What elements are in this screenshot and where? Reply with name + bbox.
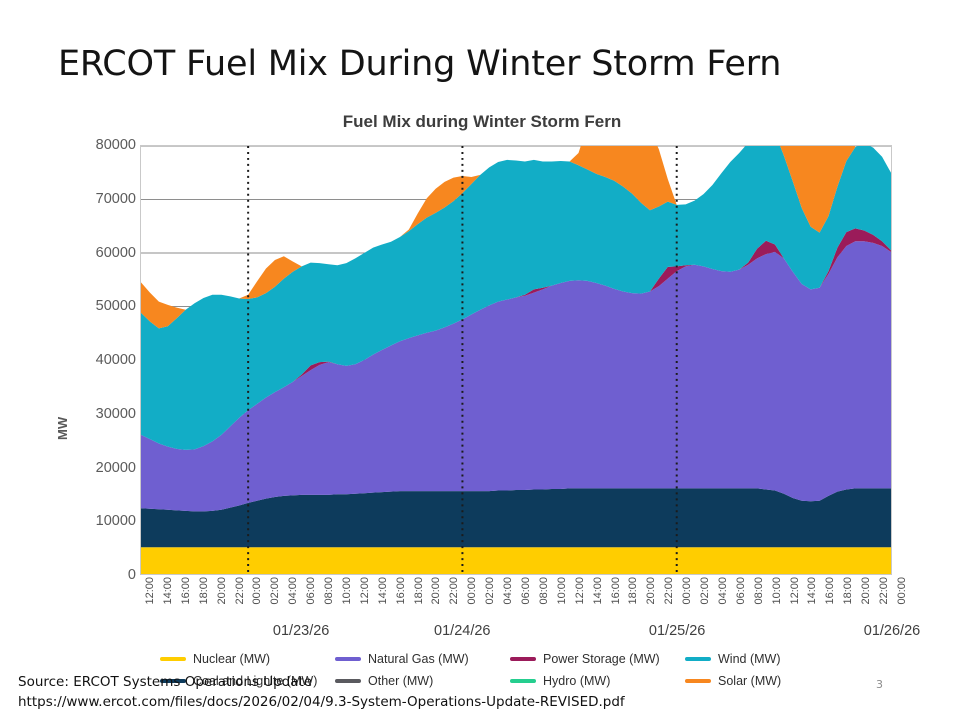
x-axis-tick-label: 04:00 <box>287 577 299 605</box>
x-axis-day-label: 01/25/26 <box>649 623 705 639</box>
plot-area <box>140 145 892 575</box>
y-axis-tick-label: 0 <box>66 567 136 583</box>
legend-color-swatch <box>160 657 186 661</box>
x-axis-tick-label: 22:00 <box>663 577 675 605</box>
x-axis-tick-label: 06:00 <box>520 577 532 605</box>
legend-item[interactable]: Nuclear (MW) <box>160 649 335 669</box>
x-axis-tick-label: 16:00 <box>180 577 192 605</box>
x-axis-tick-label: 12:00 <box>574 577 586 605</box>
x-axis-tick-label: 18:00 <box>413 577 425 605</box>
x-axis-tick-label: 06:00 <box>305 577 317 605</box>
x-axis-tick-label: 12:00 <box>359 577 371 605</box>
x-axis-tick-label: 16:00 <box>610 577 622 605</box>
stacked-area-chart <box>141 146 891 574</box>
x-axis-tick-label: 04:00 <box>717 577 729 605</box>
x-axis-tick-label: 04:00 <box>502 577 514 605</box>
x-axis-tick-label: 00:00 <box>466 577 478 605</box>
x-axis-tick-label: 18:00 <box>627 577 639 605</box>
x-axis-tick-label: 16:00 <box>395 577 407 605</box>
x-axis-tick-label: 18:00 <box>198 577 210 605</box>
source-citation: Source: ERCOT Systems Operations Update … <box>18 672 698 713</box>
legend-color-swatch <box>335 657 361 661</box>
legend-label: Nuclear (MW) <box>193 652 270 666</box>
legend-color-swatch <box>685 657 711 661</box>
y-axis-tick-label: 30000 <box>66 406 136 422</box>
x-axis-tick-label: 02:00 <box>484 577 496 605</box>
chart-container: Fuel Mix during Winter Storm Fern MW 010… <box>52 104 912 670</box>
x-axis-tick-label: 16:00 <box>824 577 836 605</box>
x-axis-tick-label: 22:00 <box>234 577 246 605</box>
x-axis-tick-label: 20:00 <box>860 577 872 605</box>
x-axis-day-label: 01/23/26 <box>273 623 329 639</box>
x-axis-tick-label: 10:00 <box>771 577 783 605</box>
x-axis-ticks: 12:0014:0016:0018:0020:0022:0000:0002:00… <box>140 577 892 621</box>
legend-label: Solar (MW) <box>718 674 781 688</box>
x-axis-tick-label: 22:00 <box>448 577 460 605</box>
x-axis-tick-label: 18:00 <box>842 577 854 605</box>
y-axis-tick-label: 40000 <box>66 352 136 368</box>
x-axis-tick-label: 08:00 <box>753 577 765 605</box>
x-axis-tick-label: 14:00 <box>592 577 604 605</box>
source-line-2: https://www.ercot.com/files/docs/2026/02… <box>18 692 698 712</box>
legend-item[interactable]: Wind (MW) <box>685 649 860 669</box>
y-axis-ticks: 0100002000030000400005000060000700008000… <box>60 145 136 575</box>
x-axis-day-labels: 01/23/2601/24/2601/25/2601/26/26 <box>140 623 892 645</box>
x-axis-tick-label: 10:00 <box>341 577 353 605</box>
x-axis-tick-label: 12:00 <box>144 577 156 605</box>
x-axis-tick-label: 22:00 <box>878 577 890 605</box>
x-axis-tick-label: 00:00 <box>251 577 263 605</box>
legend-label: Power Storage (MW) <box>543 652 660 666</box>
x-axis-tick-label: 20:00 <box>645 577 657 605</box>
x-axis-tick-label: 20:00 <box>216 577 228 605</box>
area-series-group <box>141 146 891 574</box>
x-axis-tick-label: 20:00 <box>430 577 442 605</box>
x-axis-tick-label: 00:00 <box>896 577 908 605</box>
x-axis-tick-label: 08:00 <box>538 577 550 605</box>
x-axis-tick-label: 06:00 <box>735 577 747 605</box>
chart-title: Fuel Mix during Winter Storm Fern <box>52 112 912 132</box>
x-axis-tick-label: 10:00 <box>556 577 568 605</box>
legend-item[interactable]: Power Storage (MW) <box>510 649 685 669</box>
x-axis-tick-label: 14:00 <box>806 577 818 605</box>
x-axis-day-label: 01/26/26 <box>864 623 920 639</box>
x-axis-tick-label: 14:00 <box>162 577 174 605</box>
y-axis-tick-label: 80000 <box>66 137 136 153</box>
area-series <box>141 547 891 574</box>
page-number: 3 <box>876 678 883 691</box>
x-axis-tick-label: 14:00 <box>377 577 389 605</box>
page-title: ERCOT Fuel Mix During Winter Storm Fern <box>58 44 908 96</box>
y-axis-tick-label: 10000 <box>66 513 136 529</box>
x-axis-tick-label: 12:00 <box>789 577 801 605</box>
y-axis-tick-label: 50000 <box>66 298 136 314</box>
y-axis-tick-label: 70000 <box>66 191 136 207</box>
legend-label: Natural Gas (MW) <box>368 652 469 666</box>
source-line-1: Source: ERCOT Systems Operations Update <box>18 672 698 692</box>
legend-color-swatch <box>510 657 536 661</box>
y-axis-tick-label: 60000 <box>66 245 136 261</box>
legend-label: Wind (MW) <box>718 652 781 666</box>
x-axis-tick-label: 08:00 <box>323 577 335 605</box>
legend-item[interactable]: Solar (MW) <box>685 671 860 691</box>
y-axis-tick-label: 20000 <box>66 460 136 476</box>
x-axis-day-label: 01/24/26 <box>434 623 490 639</box>
x-axis-tick-label: 02:00 <box>699 577 711 605</box>
legend-item[interactable]: Natural Gas (MW) <box>335 649 510 669</box>
x-axis-tick-label: 02:00 <box>269 577 281 605</box>
x-axis-tick-label: 00:00 <box>681 577 693 605</box>
slide: ERCOT Fuel Mix During Winter Storm Fern … <box>0 0 960 720</box>
